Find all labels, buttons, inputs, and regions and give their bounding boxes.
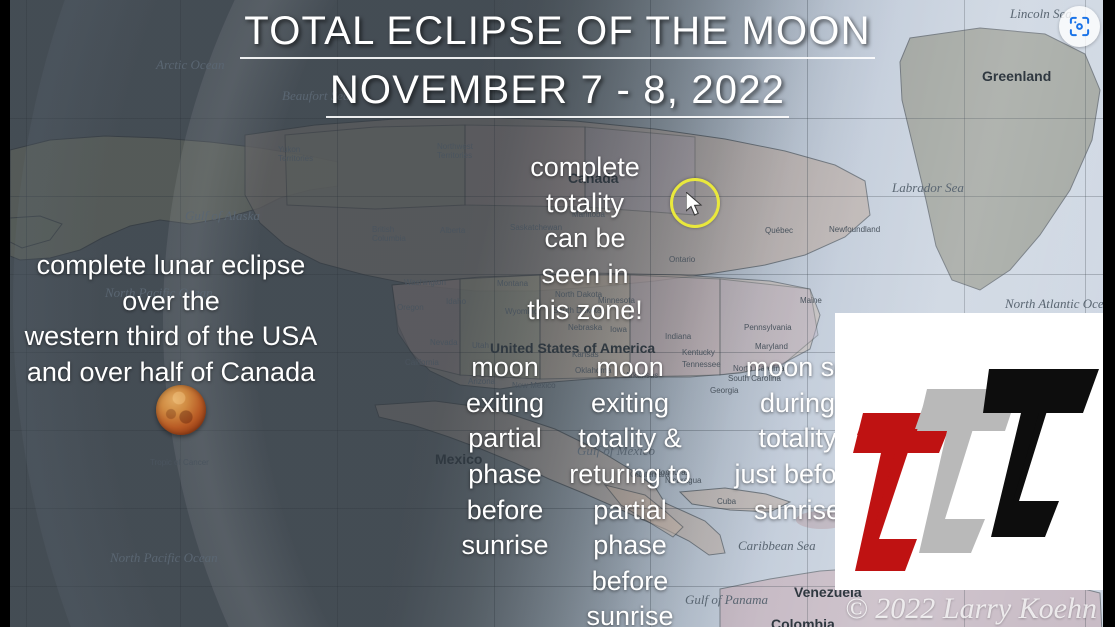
graticule-line: [26, 0, 27, 627]
graticule-line: [180, 0, 181, 627]
graticule-line: [650, 0, 651, 627]
lens-scan-icon: [1068, 15, 1091, 38]
graticule-line: [10, 274, 1103, 275]
three-t-logo-mark: [835, 313, 1115, 590]
land-greenland: [870, 20, 1103, 320]
graticule-line: [10, 118, 1103, 119]
three-t-logo: [835, 313, 1115, 590]
mouse-cursor: [686, 192, 704, 218]
letterbox-bar-left: [0, 0, 10, 627]
graticule-line: [807, 0, 808, 627]
eclipsed-blood-moon-icon: [156, 385, 206, 435]
graticule-line: [337, 0, 338, 627]
screenshot-root: Arctic OceanBeaufort SeaGulf of AlaskaNo…: [0, 0, 1115, 627]
graticule-line: [494, 0, 495, 627]
google-lens-button[interactable]: [1059, 6, 1100, 47]
letterbox-bar-right: [1103, 0, 1115, 627]
moon-surface-mottle: [156, 385, 206, 435]
graticule-line: [10, 196, 1103, 197]
